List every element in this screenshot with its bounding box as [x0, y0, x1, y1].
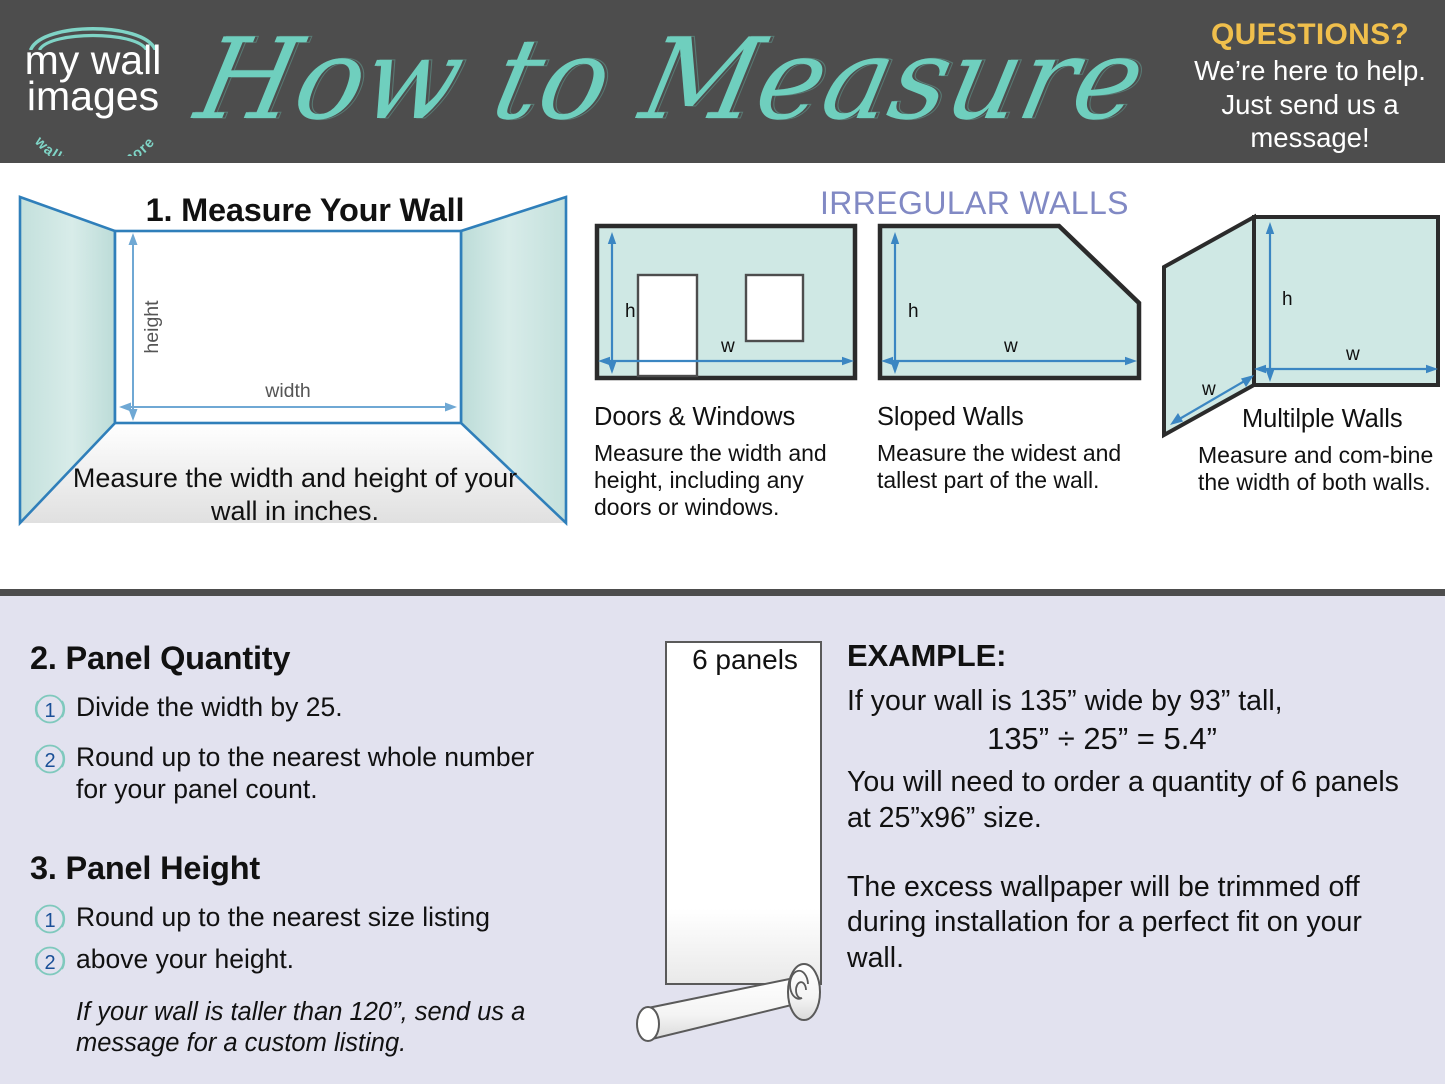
roll-panel-count-label: 6 panels: [655, 644, 835, 676]
badge-4-number: 2: [44, 952, 55, 974]
logo-tagline: wallpaper + more: [22, 116, 168, 156]
step1-title: 1. Measure Your Wall: [70, 192, 540, 229]
irregular-col-doors-windows: h w Doors & Windows Measure the width an…: [594, 223, 860, 521]
mw-w-label: w: [1345, 344, 1360, 365]
brand-logo: my wall images wallpaper + more: [14, 16, 172, 152]
doors-windows-diagram: h w: [594, 223, 860, 388]
sloped-w-label: w: [1003, 336, 1018, 357]
mw-w2-label: w: [1201, 379, 1216, 400]
step2-bullet-2-text: Round up to the nearest whole number for…: [76, 739, 546, 806]
step1-caption: Measure the width and height of your wal…: [60, 462, 530, 529]
example-column: EXAMPLE: If your wall is 135” wide by 93…: [847, 638, 1437, 976]
page-title-script: How to Measure & Order How to Measure & …: [186, 14, 1176, 146]
header-bar: my wall images wallpaper + more How to M…: [0, 0, 1445, 163]
step2-title: 2. Panel Quantity: [30, 640, 570, 677]
roll-sheet: [666, 642, 821, 984]
example-formula: 135” ÷ 25” = 5.4”: [847, 721, 1437, 757]
mw-h-label: h: [1282, 289, 1293, 310]
dw-h-label: h: [625, 301, 636, 322]
irregular-col-multiple-walls: h w w Multilple Walls Measure and com-bi…: [1160, 207, 1442, 496]
section-panel-calc: 2. Panel Quantity 1 Divide the width by …: [0, 596, 1445, 1084]
step2-bullet-2: 2 Round up to the nearest whole number f…: [30, 739, 570, 806]
step3-note: If your wall is taller than 120”, send u…: [76, 997, 556, 1060]
step3-bullet-1-text: Round up to the nearest size listing: [76, 899, 556, 933]
questions-body: We’re here to help. Just send us a messa…: [1184, 54, 1436, 155]
badge-3-number: 1: [44, 910, 55, 932]
step2-bullet-1: 1 Divide the width by 25.: [30, 689, 570, 729]
example-heading: EXAMPLE:: [847, 638, 1437, 674]
badge-2-icon: 2: [30, 739, 70, 779]
sloped-h-label: h: [908, 301, 919, 322]
irregular-col-sloped-walls: h w Sloped Walls Measure the widest and …: [877, 223, 1143, 494]
sloped-walls-diagram: h w: [877, 223, 1143, 388]
step3-title: 3. Panel Height: [30, 850, 570, 887]
section-divider: [0, 589, 1445, 596]
irregular-desc-multiple-walls: Measure and com-bine the width of both w…: [1198, 442, 1442, 496]
roll-left-cap: [637, 1007, 659, 1041]
step3-bullet-1: 1 Round up to the nearest size listing: [30, 899, 570, 939]
questions-heading: QUESTIONS?: [1184, 20, 1436, 50]
example-line-1: If your wall is 135” wide by 93” tall,: [847, 684, 1437, 719]
badge-1-icon: 1: [30, 689, 70, 729]
irregular-desc-sloped-walls: Measure the widest and tallest part of t…: [877, 440, 1143, 494]
step3-bullet-2: 2 above your height.: [30, 941, 570, 981]
svg-text:wallpaper + more: wallpaper + more: [31, 133, 159, 156]
questions-callout: QUESTIONS? We’re here to help. Just send…: [1184, 20, 1436, 155]
logo-line2: images: [14, 78, 172, 116]
irregular-name-doors-windows: Doors & Windows: [594, 403, 860, 432]
roll-body: [648, 976, 804, 1040]
irregular-desc-doors-windows: Measure the width and height, including …: [594, 440, 860, 521]
example-line-2: You will need to order a quantity of 6 p…: [847, 765, 1407, 836]
irregular-name-sloped-walls: Sloped Walls: [877, 403, 1143, 432]
wallpaper-roll-illustration: [636, 636, 851, 1056]
irregular-walls-heading: IRREGULAR WALLS: [820, 185, 1180, 222]
badge-2-number: 2: [44, 750, 55, 772]
dw-w-label: w: [720, 336, 735, 357]
step3-bullet-2-text: above your height.: [76, 941, 294, 975]
width-label: width: [264, 380, 311, 402]
logo-tagline-text: wallpaper + more: [31, 133, 159, 156]
infographic-page: my wall images wallpaper + more How to M…: [0, 0, 1445, 1084]
section-measure-your-wall: height width 1. Measure Your Wall Measur…: [0, 163, 1445, 592]
badge-1-number: 1: [44, 700, 55, 722]
step2-bullet-1-text: Divide the width by 25.: [76, 689, 343, 723]
badge-4-icon: 2: [30, 941, 70, 981]
page-title-stroke-accent: How to Measure & Order: [187, 14, 1176, 145]
steps-column: 2. Panel Quantity 1 Divide the width by …: [30, 640, 570, 1060]
example-line-3: The excess wallpaper will be trimmed off…: [847, 870, 1407, 976]
dw-window: [746, 275, 803, 341]
example-spacer: [847, 836, 1437, 870]
height-label: height: [141, 300, 163, 354]
badge-3-icon: 1: [30, 899, 70, 939]
